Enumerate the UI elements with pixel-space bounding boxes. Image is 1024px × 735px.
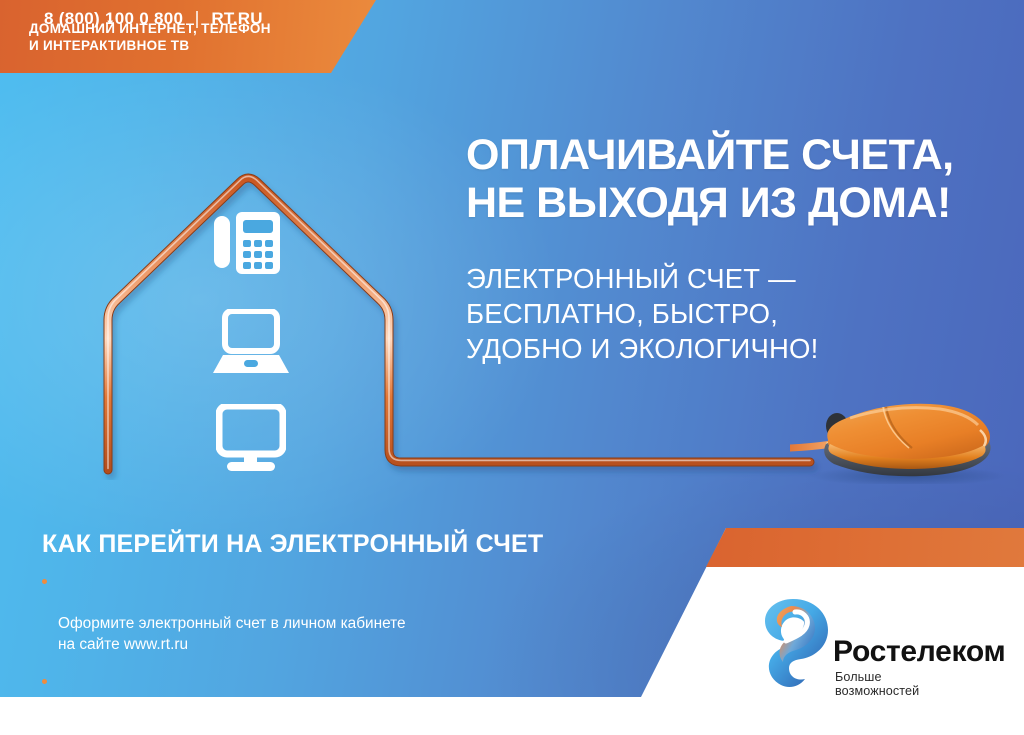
bullet-dot-icon: [42, 679, 47, 684]
howto-list: Оформите электронный счет в личном кабин…: [42, 571, 562, 735]
list-item: Оформите электронный счет в личном кабин…: [42, 571, 562, 655]
list-item-text: Оформите электронный счет в личном кабин…: [58, 615, 406, 653]
howto-title: КАК ПЕРЕЙТИ НА ЭЛЕКТРОННЫЙ СЧЕТ: [42, 530, 543, 559]
page-subheadline: ЭЛЕКТРОННЫЙ СЧЕТ — БЕСПЛАТНО, БЫСТРО, УД…: [466, 261, 818, 366]
desk-phone-icon: [212, 210, 282, 278]
logo-wordmark: Ростелеком: [833, 635, 1005, 669]
logo-tagline: Больше возможностей: [835, 670, 919, 698]
contact-bar: [700, 528, 1024, 567]
separator-divider: [196, 11, 198, 28]
website-url[interactable]: RT.RU: [211, 9, 263, 29]
list-item: Или обратитесь в центр продаж и обслужив…: [42, 671, 562, 735]
advertisement-poster: ДОМАШНИЙ ИНТЕРНЕТ, ТЕЛЕФОН И ИНТЕРАКТИВН…: [0, 0, 1024, 735]
phone-number[interactable]: 8 (800) 100 0 800: [44, 9, 183, 29]
bullet-dot-icon: [42, 579, 47, 584]
monitor-icon: [216, 404, 286, 472]
rostelecom-ear-mark-icon: [755, 597, 829, 689]
page-headline: ОПЛАЧИВАЙТЕ СЧЕТА, НЕ ВЫХОДЯ ИЗ ДОМА!: [466, 131, 954, 227]
computer-mouse-icon: [790, 392, 1010, 484]
laptop-icon: [213, 309, 289, 375]
contact-text: 8 (800) 100 0 800 RT.RU: [44, 9, 263, 29]
list-item-text: Или обратитесь в центр продаж и обслужив…: [58, 715, 444, 735]
